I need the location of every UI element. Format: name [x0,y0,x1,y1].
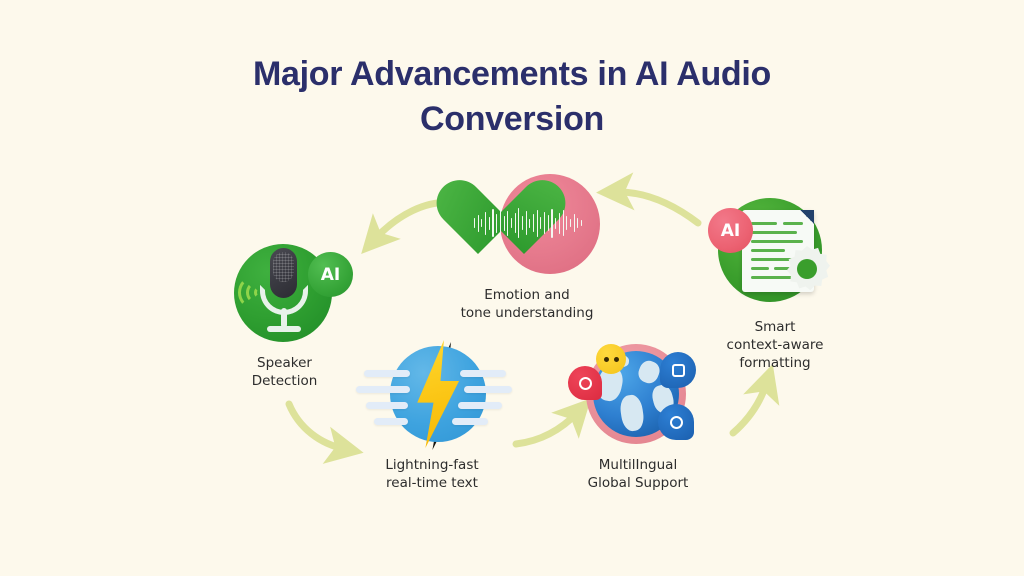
globe-speech-bubbles-icon [562,338,714,450]
mic-stem [281,308,287,328]
mic-base [267,326,301,332]
lightning-bolt-icon [352,338,512,450]
smiley-face-icon [596,344,626,374]
infographic-canvas: Major Advancements in AI Audio Conversio… [0,0,1024,576]
arrow-speaker-to-lightning [289,404,345,449]
node-label-emotion-tone: Emotion and tone understanding [461,287,594,323]
arrow-global-to-format [733,382,767,433]
ai-badge-green: AI [308,252,353,297]
speech-bubble-red-icon [568,366,602,400]
node-speaker-detection[interactable]: AI Speaker Detection [212,238,357,391]
node-smart-formatting[interactable]: AI Smart context-aware formatting [700,194,850,373]
speech-bubble-blue-round-icon [658,404,694,440]
speech-bubble-blue-square-icon [660,352,696,388]
node-label-smart-formatting: Smart context-aware formatting [727,319,824,373]
node-lightning-fast[interactable]: Lightning-fast real-time text [352,338,512,493]
microphone-icon: AI [212,238,357,348]
page-title: Major Advancements in AI Audio Conversio… [180,52,844,142]
node-label-speaker-detection: Speaker Detection [252,355,318,391]
node-label-multilingual-support: MultilIngual Global Support [588,457,689,493]
waveform-icon [474,204,582,242]
arrow-format-to-emotion [615,192,698,223]
node-label-lightning-fast: Lightning-fast real-time text [385,457,478,493]
node-multilingual-support[interactable]: MultilIngual Global Support [562,338,714,493]
ai-badge-pink: AI [708,208,753,253]
node-emotion-tone[interactable]: Emotion and tone understanding [452,168,602,323]
gear-icon [784,246,830,292]
document-gear-icon: AI [700,194,850,312]
heart-waveform-icon [452,168,602,280]
